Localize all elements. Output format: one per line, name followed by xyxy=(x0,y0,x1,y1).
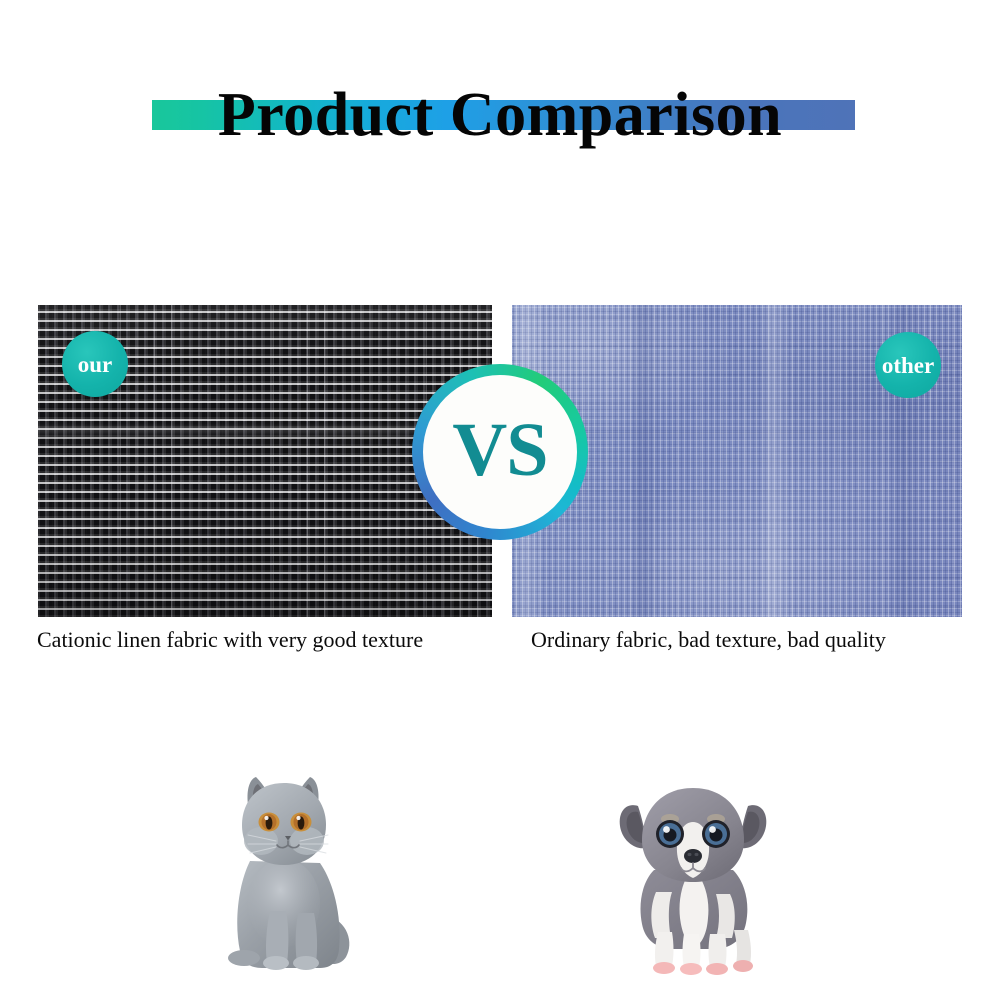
page-title: Product Comparison xyxy=(0,70,1000,160)
chihuahua-puppy-photo xyxy=(598,772,788,980)
vs-badge: VS xyxy=(412,364,588,540)
vs-label: VS xyxy=(452,412,547,488)
other-fabric-caption: Ordinary fabric, bad texture, bad qualit… xyxy=(531,626,886,654)
other-badge-label: other xyxy=(882,354,934,377)
grey-cat-photo xyxy=(198,765,370,980)
page-title-block: Product Comparison xyxy=(0,70,1000,160)
our-badge-label: our xyxy=(78,353,113,376)
product-comparison-banner: Product Comparison our other VS Cationic… xyxy=(0,0,1000,1000)
other-badge: other xyxy=(875,332,941,398)
our-fabric-caption: Cationic linen fabric with very good tex… xyxy=(37,626,423,654)
our-badge: our xyxy=(62,331,128,397)
vs-badge-inner: VS xyxy=(423,375,577,529)
